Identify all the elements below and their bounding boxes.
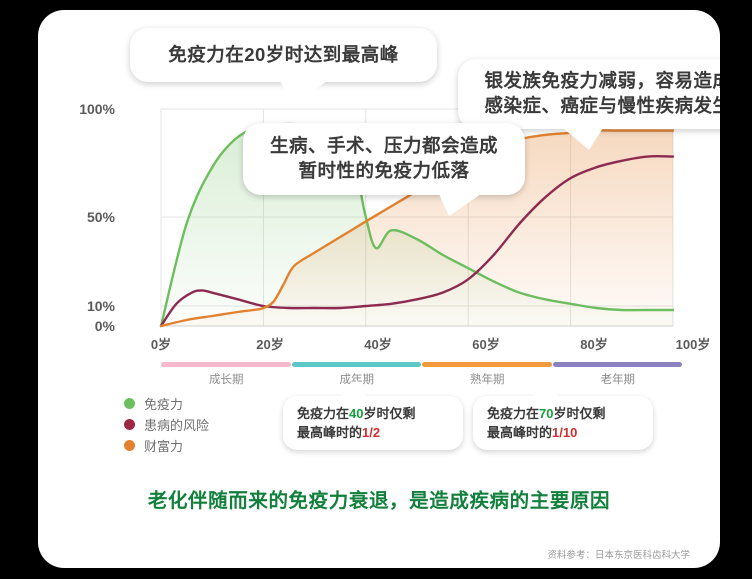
x-axis-label-80: 80岁 [580, 334, 607, 353]
period-label-3: 熟年期 [470, 371, 505, 387]
callout-dip-tail [439, 194, 481, 216]
y-axis-label-100: 100% [79, 101, 115, 117]
callout-half-at-40: 免疫力在40岁时仅剩 最高峰时的1/2 [283, 396, 463, 450]
x-axis-label-20: 20岁 [256, 334, 283, 353]
infographic-stage: 100% 50% 10% 0% 0岁 20岁 40岁 60岁 80岁 100岁 … [0, 0, 752, 579]
callout-tenth-tail [533, 380, 559, 397]
callout-tenth-line1: 免疫力在70岁时仅剩 [487, 404, 639, 424]
callout-peak-tail [280, 81, 327, 105]
legend-dot-icon [124, 419, 135, 430]
callout-half-fraction: 1/2 [362, 425, 380, 440]
callout-peak-text: 免疫力在20岁时达到最高峰 [168, 43, 399, 68]
x-axis-label-100: 100岁 [676, 334, 711, 353]
callout-dip: 生病、手术、压力都会造成 暂时性的免疫力低落 [243, 123, 525, 195]
period-segment-3 [422, 362, 552, 367]
legend-label: 财富力 [144, 436, 183, 455]
chart-legend: 免疫力患病的风险财富力 [124, 393, 209, 456]
source-footer: 资料参考：日本东京医科齿科大学 [547, 547, 690, 561]
legend-dot-icon [124, 398, 135, 409]
legend-item-3[interactable]: 财富力 [124, 435, 209, 456]
callout-senior-line1: 银发族免疫力减弱，容易造成 [484, 69, 720, 94]
callout-peak: 免疫力在20岁时达到最高峰 [130, 28, 437, 82]
callout-half-line1: 免疫力在40岁时仅剩 [297, 404, 449, 424]
period-segment-1 [161, 362, 291, 367]
headline-text: 老化伴随而来的免疫力衰退，是造成疾病的主要原因 [38, 484, 720, 513]
legend-label: 免疫力 [144, 394, 183, 413]
x-axis-label-40: 40岁 [364, 334, 391, 353]
callout-senior-tail [563, 128, 603, 150]
callout-senior: 银发族免疫力减弱，容易造成 感染症、癌症与慢性疾病发生 [458, 59, 720, 129]
callout-dip-line1: 生病、手术、压力都会造成 [270, 134, 498, 159]
x-axis-label-0: 0岁 [151, 334, 171, 353]
callout-half-age: 40 [349, 406, 363, 421]
callout-half-tail [341, 380, 367, 397]
period-label-1: 成长期 [209, 371, 244, 387]
callout-half-line2: 最高峰时的1/2 [297, 423, 449, 443]
y-axis-label-0: 0% [95, 318, 115, 334]
period-segment-2 [292, 362, 422, 367]
legend-item-2[interactable]: 患病的风险 [124, 414, 209, 435]
life-period-bar: 成长期成年期熟年期老年期 [161, 362, 683, 386]
legend-dot-icon [124, 440, 135, 451]
callout-tenth-fraction: 1/10 [552, 425, 577, 440]
callout-senior-line2: 感染症、癌症与慢性疾病发生 [484, 94, 720, 119]
callout-tenth-age: 70 [539, 406, 553, 421]
period-segment-4 [553, 362, 683, 367]
legend-item-1[interactable]: 免疫力 [124, 393, 209, 414]
x-axis-label-60: 60岁 [472, 334, 499, 353]
callout-tenth-at-70: 免疫力在70岁时仅剩 最高峰时的1/10 [473, 396, 653, 450]
callout-dip-line2: 暂时性的免疫力低落 [298, 159, 469, 184]
callout-tenth-line2: 最高峰时的1/10 [487, 423, 639, 443]
y-axis-label-50: 50% [87, 209, 115, 225]
infographic-card: 100% 50% 10% 0% 0岁 20岁 40岁 60岁 80岁 100岁 … [38, 10, 720, 568]
legend-label: 患病的风险 [144, 415, 209, 434]
period-label-4: 老年期 [601, 371, 636, 387]
y-axis-label-10: 10% [87, 298, 115, 314]
